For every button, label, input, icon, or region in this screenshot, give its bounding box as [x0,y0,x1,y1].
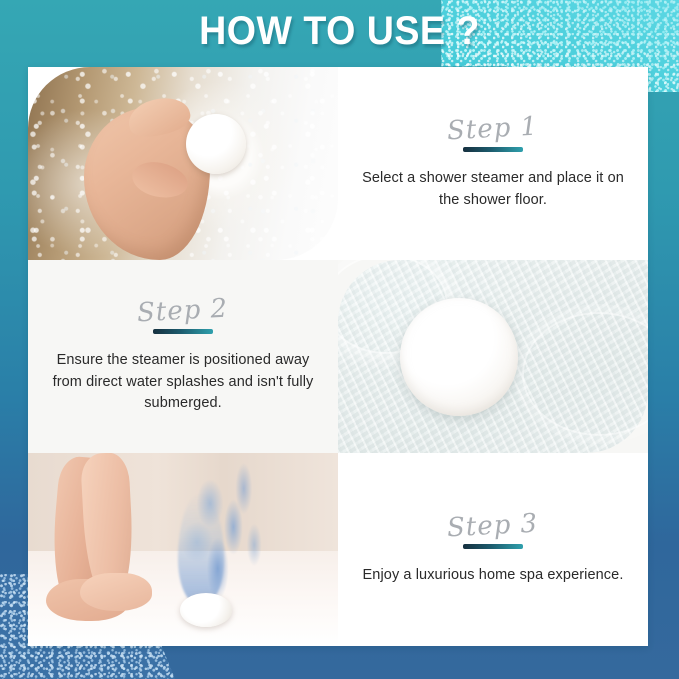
tablet-in-water-photo [338,260,648,453]
infographic-canvas: HOW TO USE ? Step 1 Select a shower stea… [0,0,679,679]
steamer-tablet-icon [180,593,232,627]
step-row-2: Step 2 Ensure the steamer is positioned … [28,260,648,453]
foot-shape-secondary [80,573,152,611]
step-divider-bar [463,147,523,152]
step-body-text: Select a shower steamer and place it on … [353,168,633,212]
steamer-tablet-icon [400,298,518,416]
step-2-photo [338,260,648,453]
step-3-photo [28,453,338,646]
step-row-1: Step 1 Select a shower steamer and place… [28,67,648,260]
step-label: Step 3 [447,510,539,541]
page-title: HOW TO USE ? [20,9,658,54]
water-ripple-secondary-icon [522,312,648,436]
blue-vapour-icon [158,459,288,607]
step-body-text: Enjoy a luxurious home spa experience. [363,565,624,587]
step-row-3: Step 3 Enjoy a luxurious home spa experi… [28,453,648,646]
steamer-tablet-icon [186,114,246,174]
step-label: Step 1 [447,113,539,144]
hand-steamer-photo [28,67,338,260]
step-3-text: Step 3 Enjoy a luxurious home spa experi… [338,453,648,646]
steps-card: Step 1 Select a shower steamer and place… [28,67,648,646]
step-divider-bar [153,329,213,334]
step-1-text: Step 1 Select a shower steamer and place… [338,67,648,260]
step-label: Step 2 [137,296,229,327]
step-2-text: Step 2 Ensure the steamer is positioned … [28,260,338,453]
step-1-photo [28,67,338,260]
step-body-text: Ensure the steamer is positioned away fr… [43,350,323,415]
step-divider-bar [463,544,523,549]
feet-vapour-photo [28,453,338,646]
